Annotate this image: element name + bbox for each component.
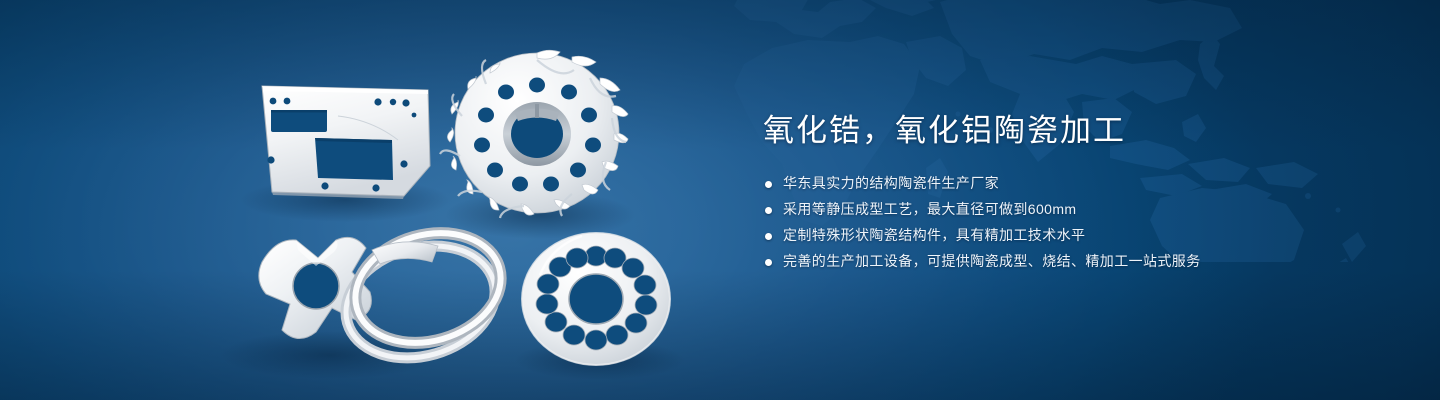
feature-text: 采用等静压成型工艺，最大直径可做到600mm (783, 201, 1076, 218)
list-item: 华东具实力的结构陶瓷件生产厂家 (763, 175, 1383, 192)
list-item: 定制特殊形状陶瓷结构件，具有精加工技术水平 (763, 227, 1383, 244)
page-title: 氧化锆，氧化铝陶瓷加工 (763, 112, 1383, 151)
feature-text: 华东具实力的结构陶瓷件生产厂家 (783, 175, 999, 192)
ceramic-impeller-wheel (440, 50, 628, 218)
hero-banner: 氧化锆，氧化铝陶瓷加工 华东具实力的结构陶瓷件生产厂家 采用等静压成型工艺，最大… (0, 0, 1440, 400)
ceramic-valve-plate (522, 233, 670, 365)
list-item: 采用等静压成型工艺，最大直径可做到600mm (763, 201, 1383, 218)
bullet-dot-icon (765, 233, 772, 240)
bullet-dot-icon (765, 207, 772, 214)
ceramic-mounting-plate (262, 86, 430, 199)
bullet-dot-icon (765, 259, 772, 266)
feature-text: 定制特殊形状陶瓷结构件，具有精加工技术水平 (783, 227, 1085, 244)
list-item: 完善的生产加工设备，可提供陶瓷成型、烧结、精加工一站式服务 (763, 253, 1383, 270)
marketing-copy: 氧化锆，氧化铝陶瓷加工 华东具实力的结构陶瓷件生产厂家 采用等静压成型工艺，最大… (763, 112, 1383, 270)
product-photo-group (0, 0, 720, 400)
feature-text: 完善的生产加工设备，可提供陶瓷成型、烧结、精加工一站式服务 (783, 253, 1201, 270)
feature-list: 华东具实力的结构陶瓷件生产厂家 采用等静压成型工艺，最大直径可做到600mm 定… (763, 175, 1383, 270)
bullet-dot-icon (765, 181, 772, 188)
